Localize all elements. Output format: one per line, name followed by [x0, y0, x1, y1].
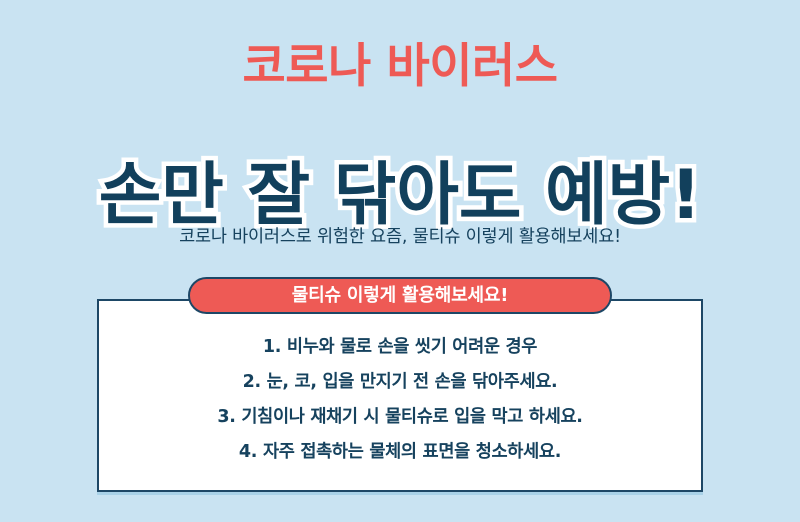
list-item: 2. 눈, 코, 입을 만지기 전 손을 닦아주세요. [97, 365, 703, 400]
poster-root: 코로나 바이러스 손만 잘 닦아도 예방! 코로나 바이러스로 위험한 요즘, … [0, 0, 800, 522]
tips-badge-label: 물티슈 이렇게 활용해보세요! [292, 287, 508, 305]
eyebrow-title: 코로나 바이러스 [0, 36, 800, 98]
subtitle-text: 코로나 바이러스로 위험한 요즘, 물티슈 이렇게 활용해보세요! [0, 224, 800, 250]
list-item: 3. 기침이나 재채기 시 물티슈로 입을 막고 하세요. [97, 400, 703, 435]
list-item: 4. 자주 접촉하는 물체의 표면을 청소하세요. [97, 435, 703, 470]
list-item: 1. 비누와 물로 손을 씻기 어려운 경우 [97, 330, 703, 365]
tips-list: 1. 비누와 물로 손을 씻기 어려운 경우 2. 눈, 코, 입을 만지기 전… [97, 330, 703, 470]
tips-badge: 물티슈 이렇게 활용해보세요! [188, 277, 612, 314]
